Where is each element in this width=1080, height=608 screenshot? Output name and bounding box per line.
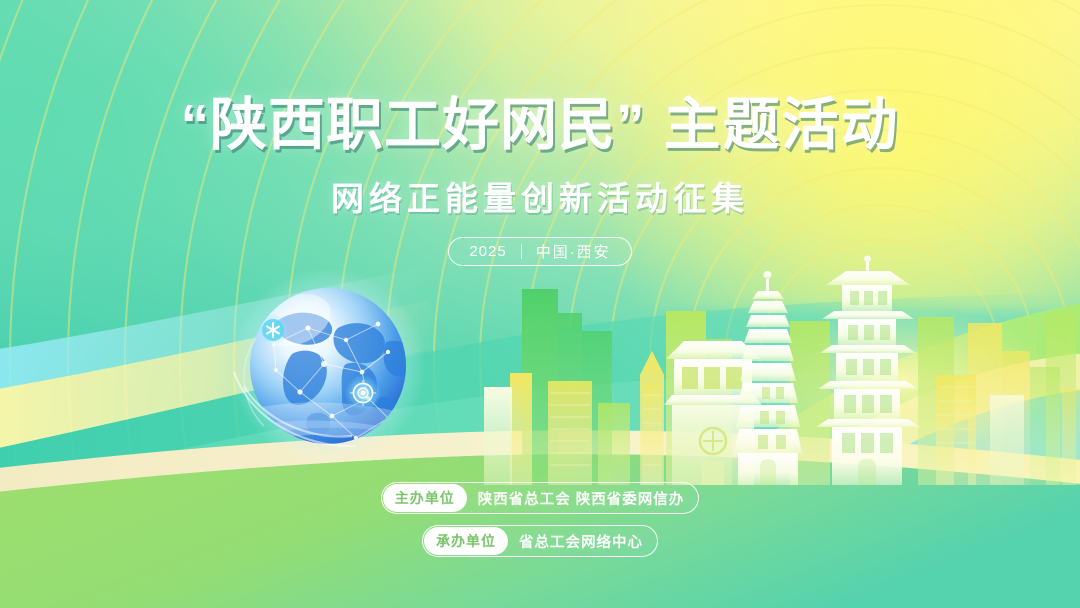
organizer-row: 主办单位 陕西省总工会 陕西省委网信办 <box>381 482 700 514</box>
organizer-row: 承办单位 省总工会网络中心 <box>422 525 658 557</box>
organizer-names: 省总工会网络中心 <box>519 531 643 552</box>
xian-skyline-icon <box>470 255 1080 485</box>
atom-node-icon <box>345 375 381 411</box>
page-subtitle: 网络正能量创新活动征集 <box>0 172 1080 220</box>
globe-network-icon <box>228 268 438 473</box>
page-title: “陕西职工好网民”主题活动 <box>0 96 1080 156</box>
organizer-tag: 承办单位 <box>424 527 508 555</box>
event-location: 中国·西安 <box>522 241 611 262</box>
title-quoted: “陕西职工好网民” <box>181 93 646 157</box>
poster-canvas: “陕西职工好网民”主题活动 网络正能量创新活动征集 2025 中国·西安 主办单… <box>0 0 1080 608</box>
date-location-badge: 2025 中国·西安 <box>448 237 631 266</box>
event-year: 2025 <box>469 243 520 260</box>
title-plain: 主题活动 <box>664 93 900 157</box>
organizer-tag: 主办单位 <box>383 484 467 512</box>
organizer-names: 陕西省总工会 陕西省委网信办 <box>478 488 685 509</box>
headline-block: “陕西职工好网民”主题活动 网络正能量创新活动征集 2025 中国·西安 <box>0 96 1080 266</box>
snowflake-badge-icon <box>257 314 289 346</box>
organizers-block: 主办单位 陕西省总工会 陕西省委网信办 承办单位 省总工会网络中心 <box>0 482 1080 568</box>
